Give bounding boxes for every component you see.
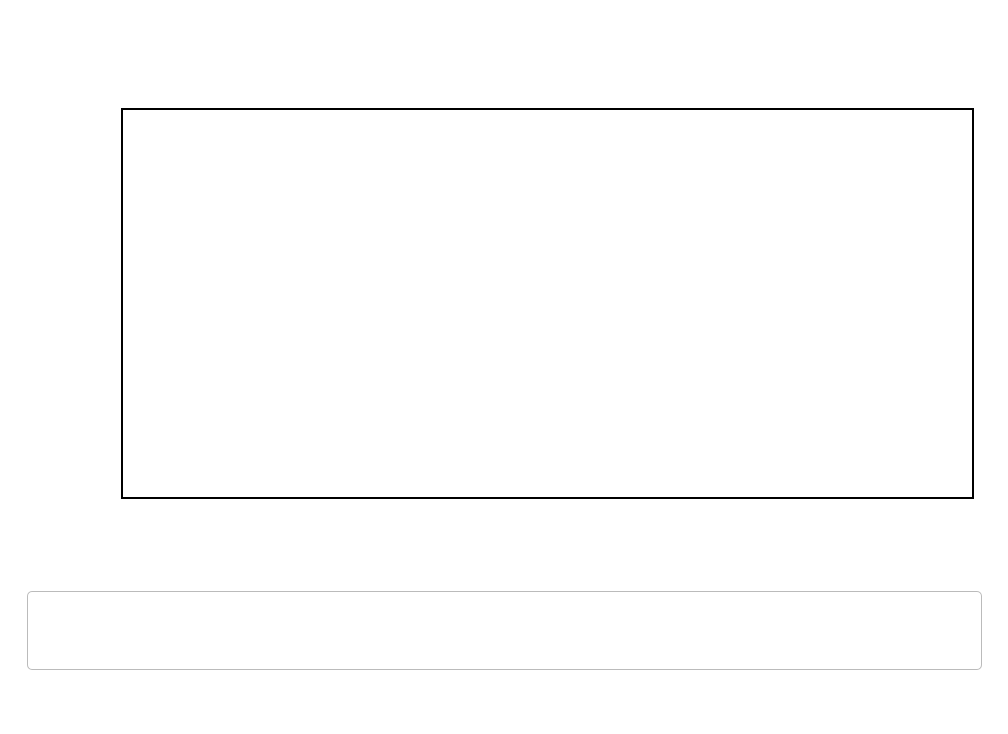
chart-figure	[0, 0, 1008, 734]
plot-area	[121, 108, 974, 499]
chart-legend	[27, 591, 982, 670]
